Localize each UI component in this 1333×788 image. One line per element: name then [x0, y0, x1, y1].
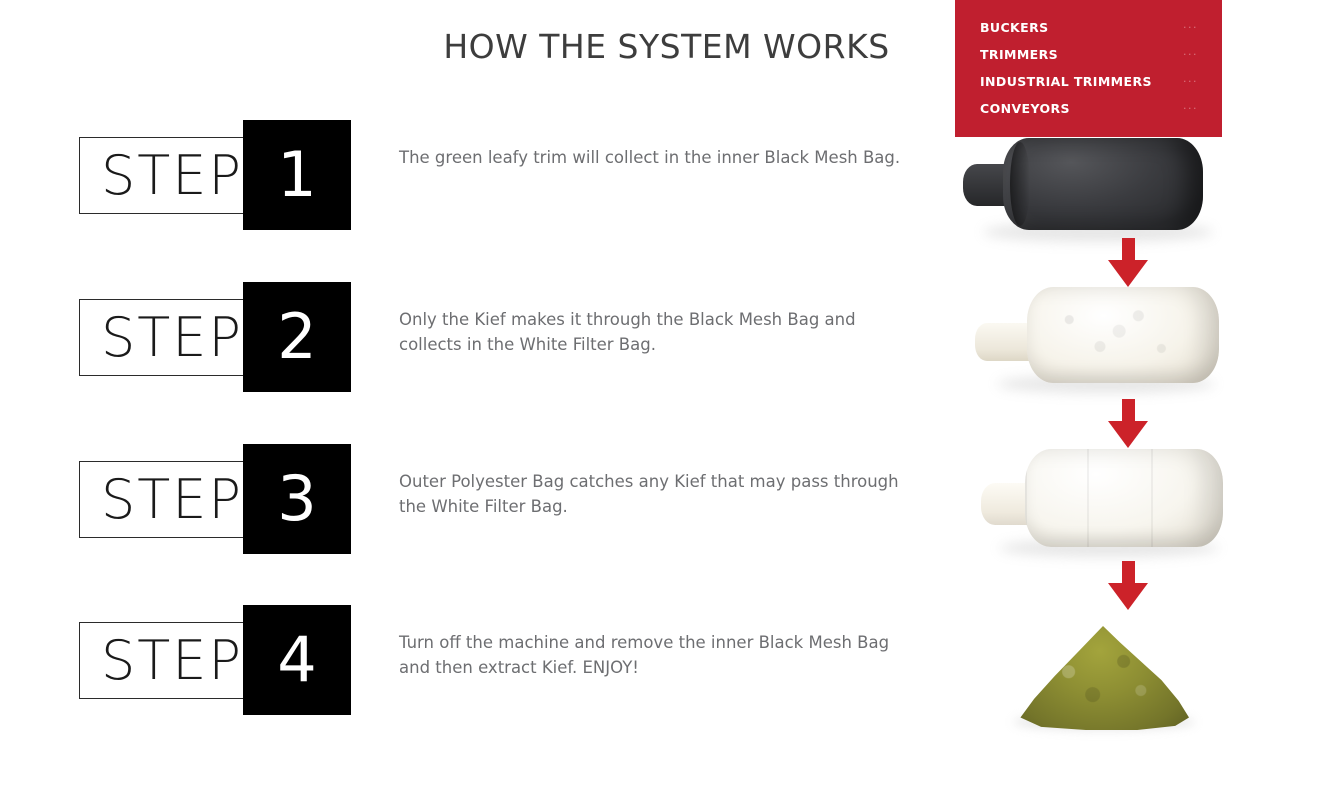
- step-number-box: 4: [243, 605, 351, 715]
- outer-polyester-bag-image: [955, 443, 1245, 563]
- step-word-label: STEP: [101, 311, 243, 365]
- down-arrow-icon: [1108, 238, 1148, 286]
- menu-item-label: CONVEYORS: [980, 101, 1070, 116]
- ellipsis-icon: ···: [1183, 49, 1198, 60]
- menu-item-label: INDUSTRIAL TRIMMERS: [980, 74, 1152, 89]
- step-word-label: STEP: [101, 473, 243, 527]
- bag-body: [1027, 287, 1219, 383]
- kief-powder-pile-image: [955, 618, 1245, 738]
- bag-body: [1025, 449, 1223, 547]
- kief-mound: [1017, 626, 1189, 730]
- menu-item-label: TRIMMERS: [980, 47, 1058, 62]
- down-arrow-icon: [1108, 399, 1148, 447]
- step-number-box: 2: [243, 282, 351, 392]
- black-mesh-bag-image: [955, 130, 1245, 250]
- step-number-label: 2: [243, 282, 351, 392]
- step-description: Only the Kief makes it through the Black…: [399, 307, 919, 357]
- step-description: Turn off the machine and remove the inne…: [399, 630, 919, 680]
- menu-item-label: BUCKERS: [980, 20, 1049, 35]
- step-number-label: 1: [243, 120, 351, 230]
- step-number-label: 4: [243, 605, 351, 715]
- step-number-label: 3: [243, 444, 351, 554]
- ellipsis-icon: ···: [1183, 22, 1198, 33]
- white-filter-bag-image: [955, 281, 1245, 401]
- arrow-head: [1108, 583, 1148, 610]
- step-badge: STEP 1: [79, 120, 351, 230]
- step-badge: STEP 4: [79, 605, 351, 715]
- step-badge: STEP 3: [79, 444, 351, 554]
- step-row: STEP 2 Only the Kief makes it through th…: [0, 282, 930, 444]
- step-description: Outer Polyester Bag catches any Kief tha…: [399, 469, 919, 519]
- ellipsis-icon: ···: [1183, 103, 1198, 114]
- step-row: STEP 1 The green leafy trim will collect…: [0, 120, 930, 282]
- step-badge: STEP 2: [79, 282, 351, 392]
- category-menu-panel: BUCKERS ··· TRIMMERS ··· INDUSTRIAL TRIM…: [955, 0, 1222, 137]
- step-row: STEP 4 Turn off the machine and remove t…: [0, 605, 930, 767]
- step-number-box: 1: [243, 120, 351, 230]
- step-row: STEP 3 Outer Polyester Bag catches any K…: [0, 444, 930, 606]
- menu-item-trimmers[interactable]: TRIMMERS ···: [980, 41, 1198, 68]
- menu-item-buckers[interactable]: BUCKERS ···: [980, 14, 1198, 41]
- menu-item-industrial-trimmers[interactable]: INDUSTRIAL TRIMMERS ···: [980, 68, 1198, 95]
- menu-item-conveyors[interactable]: CONVEYORS ···: [980, 95, 1198, 122]
- step-description: The green leafy trim will collect in the…: [399, 145, 919, 170]
- ellipsis-icon: ···: [1183, 76, 1198, 87]
- down-arrow-icon: [1108, 561, 1148, 609]
- arrow-shaft: [1122, 561, 1135, 585]
- steps-list: STEP 1 The green leafy trim will collect…: [0, 0, 930, 788]
- step-number-box: 3: [243, 444, 351, 554]
- arrow-shaft: [1122, 238, 1135, 262]
- bag-body: [1003, 138, 1203, 230]
- arrow-shaft: [1122, 399, 1135, 423]
- step-word-label: STEP: [101, 634, 243, 688]
- step-word-label: STEP: [101, 149, 243, 203]
